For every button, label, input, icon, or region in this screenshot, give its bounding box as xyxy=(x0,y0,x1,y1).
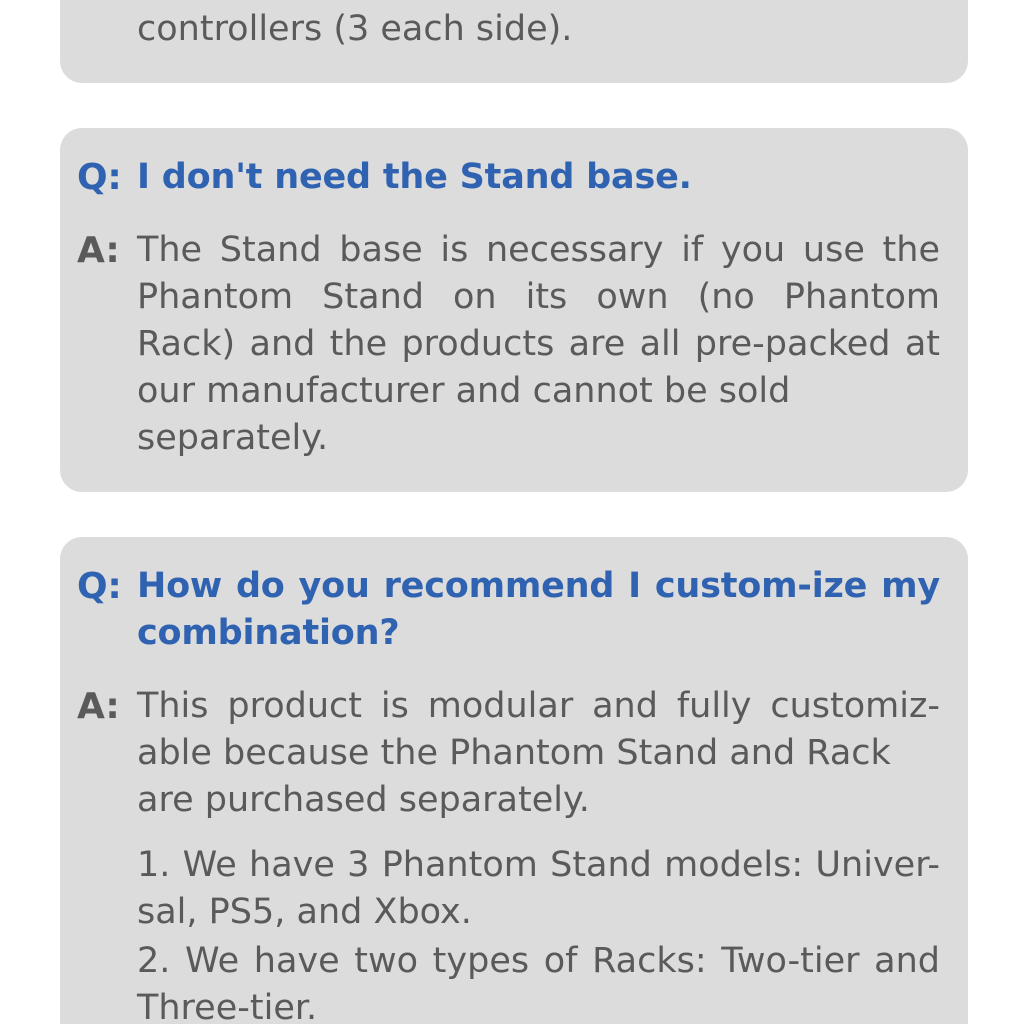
answer-block: This product is modular and fully custom… xyxy=(137,683,940,1024)
question-text: How do you recommend I custom-ize my com… xyxy=(137,563,940,657)
answer-row: A: This product is modular and fully cus… xyxy=(76,683,940,1024)
faq-page: model can hold 4 controllers (2 each sid… xyxy=(0,0,1024,1024)
answer-label: A: xyxy=(76,683,137,730)
faq-card-customize-combination: Q: How do you recommend I custom-ize my … xyxy=(60,537,968,1024)
question-row: Q: How do you recommend I custom-ize my … xyxy=(76,563,940,657)
answer-text-last-line: are purchased separately. xyxy=(137,777,940,824)
question-label: Q: xyxy=(76,563,137,610)
list-item: 2. We have two types of Racks: Two-tier … xyxy=(137,938,940,1024)
question-text: I don't need the Stand base. xyxy=(137,154,940,201)
recommendation-list: 1. We have 3 Phantom Stand models: Unive… xyxy=(137,842,940,1024)
answer-row: A: The Stand base is necessary if you us… xyxy=(76,227,940,462)
list-item-marker: 1. xyxy=(137,845,170,885)
list-item-text: We have two types of Racks: Two-tier and xyxy=(185,941,940,981)
faq-card-stand-base: Q: I don't need the Stand base. A: The S… xyxy=(60,128,968,492)
faq-card-controller-capacity: model can hold 4 controllers (2 each sid… xyxy=(60,0,968,83)
list-item-marker: 2. xyxy=(137,941,170,981)
question-label: Q: xyxy=(76,154,137,201)
list-item-last-line: Three-tier. xyxy=(137,988,317,1024)
answer-text: The Stand base is necessary if you use t… xyxy=(137,227,940,415)
faq-card-stack: model can hold 4 controllers (2 each sid… xyxy=(60,0,968,1024)
list-item-text: We have 3 Phantom Stand models: Univer- xyxy=(183,845,940,885)
answer-label: A: xyxy=(76,227,137,274)
question-row: Q: I don't need the Stand base. xyxy=(76,154,940,201)
answer-text-last-line: separately. xyxy=(137,415,940,462)
list-item: 1. We have 3 Phantom Stand models: Unive… xyxy=(137,842,940,936)
answer-block: The Stand base is necessary if you use t… xyxy=(137,227,940,462)
answer-row: model can hold 4 controllers (2 each sid… xyxy=(76,0,940,53)
answer-text: This product is modular and fully custom… xyxy=(137,683,940,777)
list-item-last-line: sal, PS5, and Xbox. xyxy=(137,892,472,932)
answer-text: model can hold 4 controllers (2 each sid… xyxy=(137,0,940,53)
